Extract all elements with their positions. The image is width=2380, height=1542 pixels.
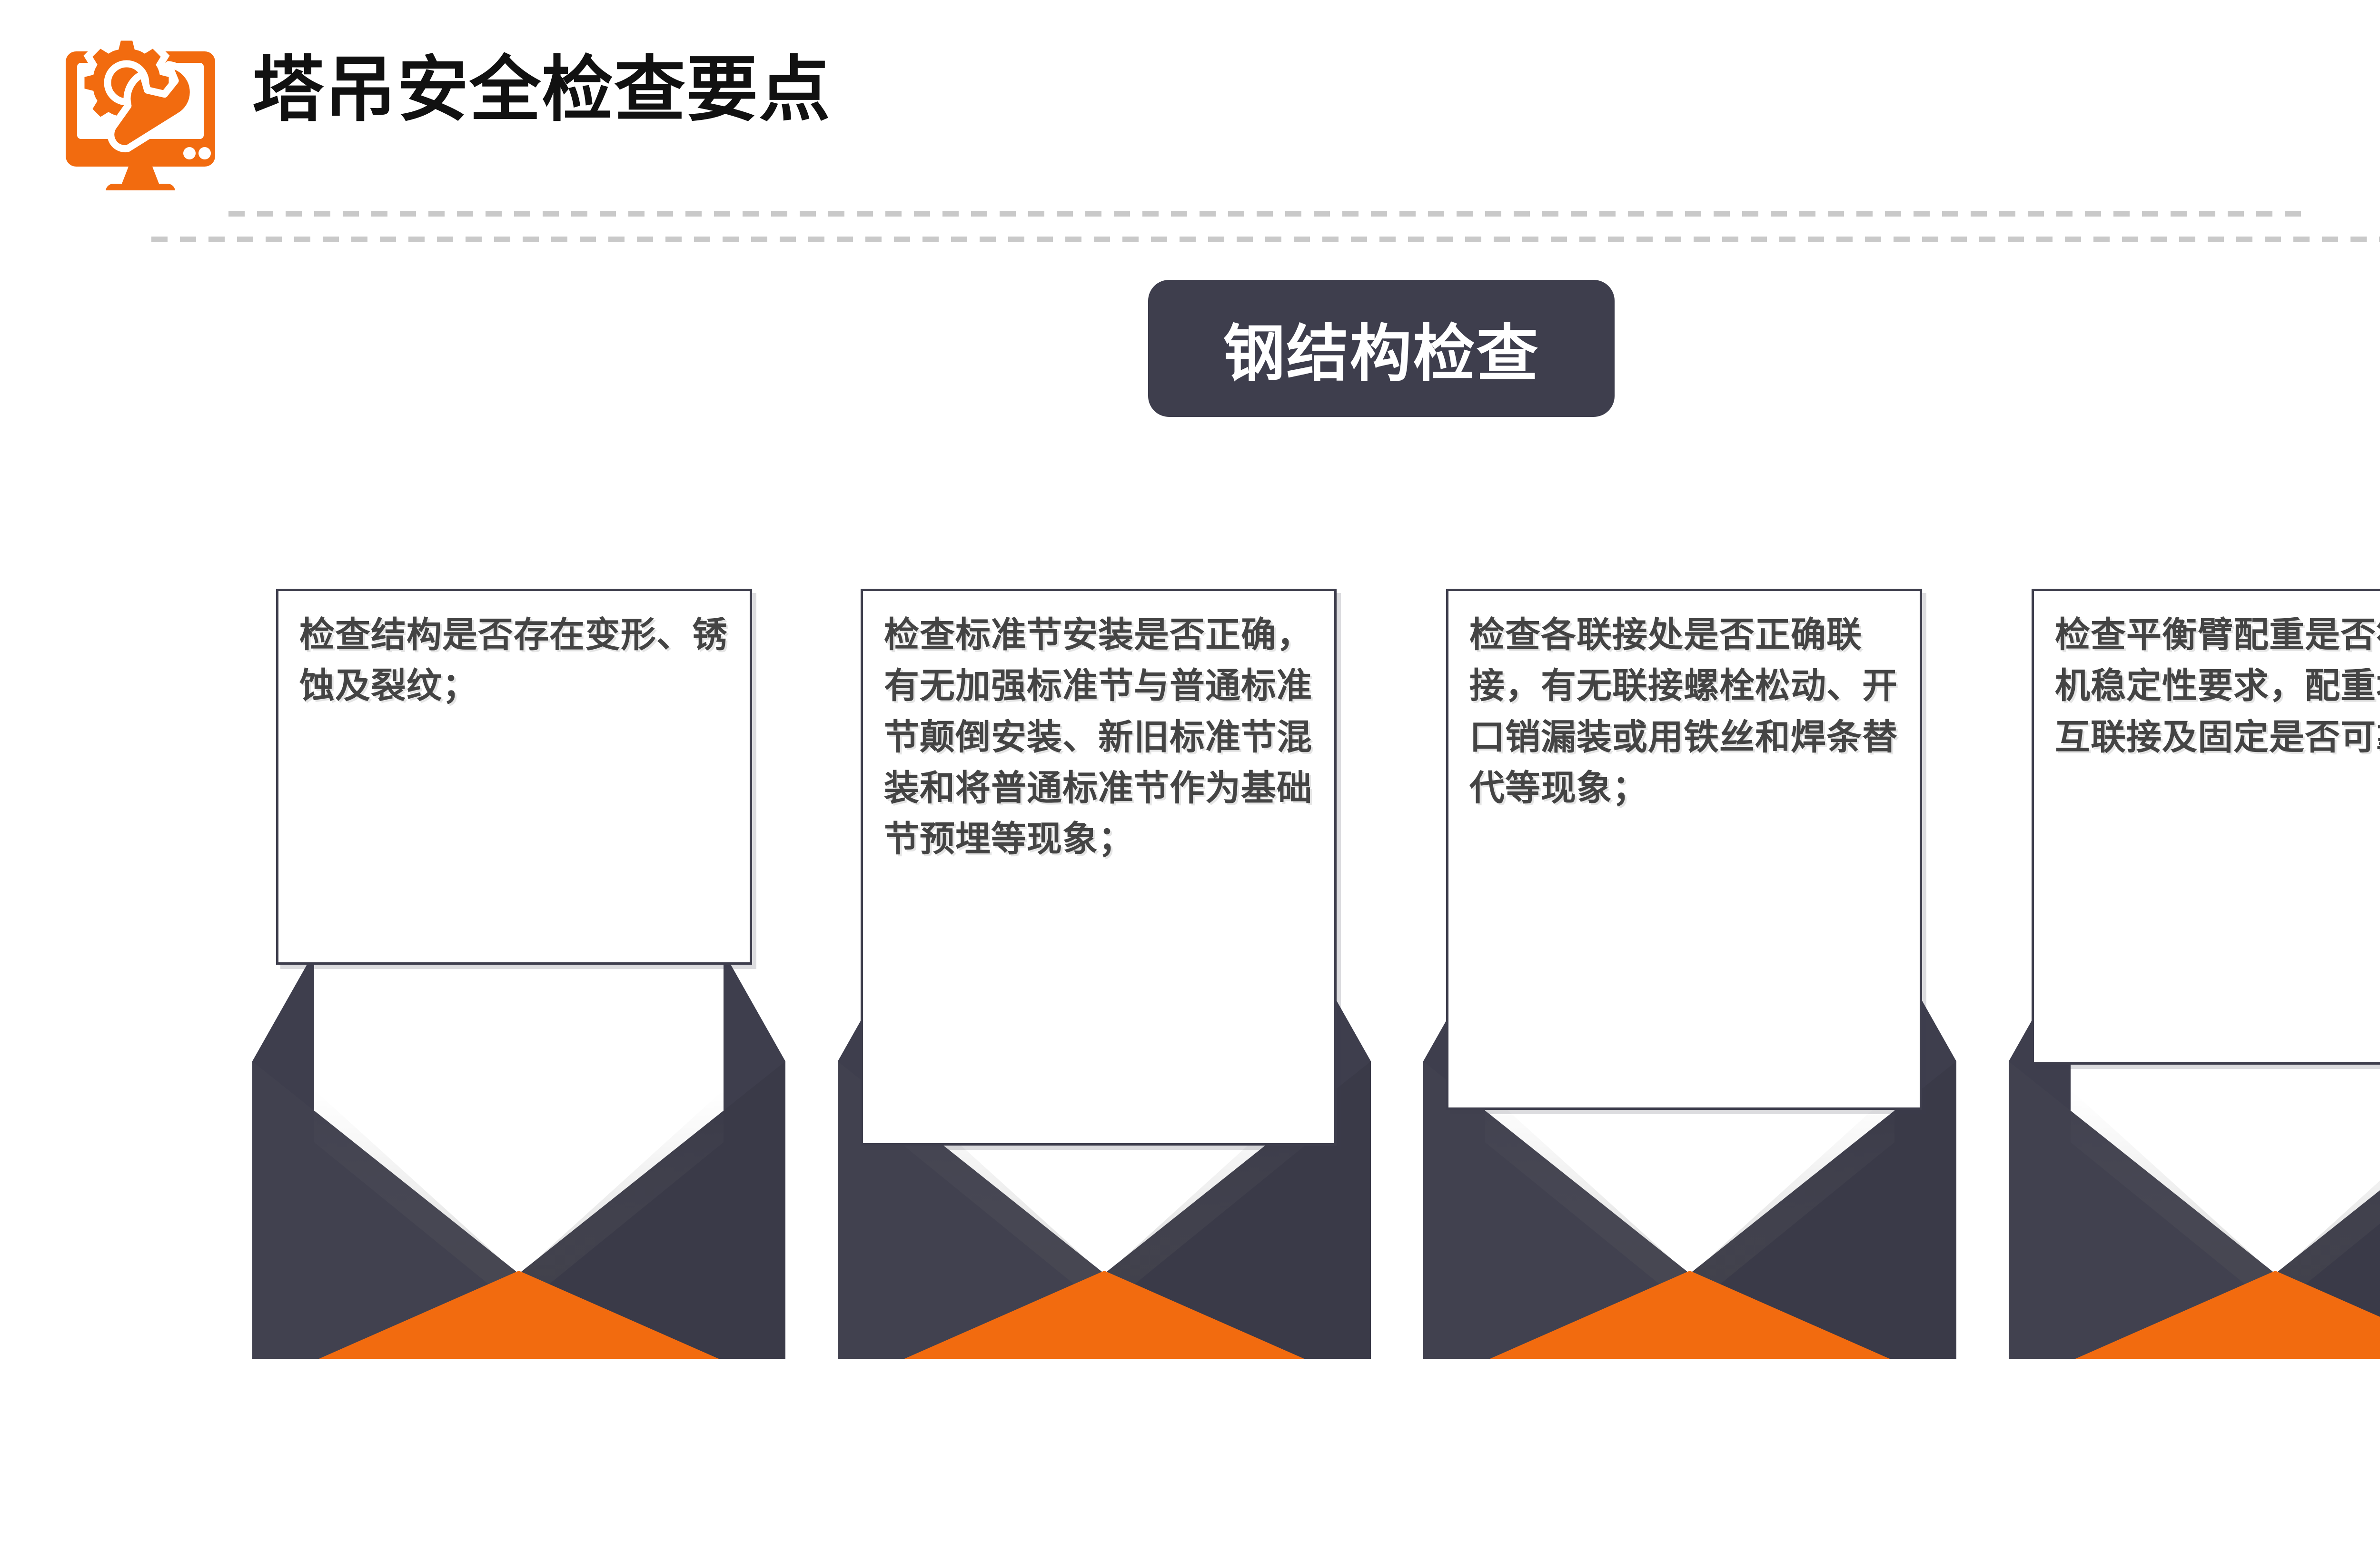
card-letter-b: B — [809, 1432, 1395, 1497]
card-unit-a[interactable]: A 检查结构是否存在变形、锈蚀及裂纹； — [224, 0, 809, 1542]
note-text-b: 检查标准节安装是否正确，有无加强标准节与普通标准节颠倒安装、新旧标准节混装和将普… — [884, 609, 1315, 864]
card-letter-c: C — [1395, 1432, 1980, 1497]
slide-root: 塔吊安全检查要点 钢结构检查 — [0, 0, 2380, 1542]
card-unit-c[interactable]: C 检查各联接处是否正确联接，有无联接螺栓松动、开口销漏装或用铁丝和焊条替代等现… — [1395, 0, 1980, 1542]
note-text-a: 检查结构是否存在变形、锈蚀及裂纹； — [299, 609, 731, 712]
note-card-b: 检查标准节安装是否正确，有无加强标准节与普通标准节颠倒安装、新旧标准节混装和将普… — [861, 589, 1337, 1146]
note-card-a: 检查结构是否存在变形、锈蚀及裂纹； — [276, 589, 752, 965]
note-card-d: 检查平衡臂配重是否符合整机稳定性要求，配重块的相互联接及固定是否可靠。 — [2032, 589, 2380, 1065]
cards-row: A 检查结构是否存在变形、锈蚀及裂纹； — [0, 0, 2380, 1542]
envelope-graphic-a — [238, 947, 800, 1359]
card-letter-a: A — [224, 1432, 809, 1497]
note-card-c: 检查各联接处是否正确联接，有无联接螺栓松动、开口销漏装或用铁丝和焊条替代等现象； — [1446, 589, 1922, 1110]
card-letter-d: D — [1980, 1432, 2380, 1497]
note-text-d: 检查平衡臂配重是否符合整机稳定性要求，配重块的相互联接及固定是否可靠。 — [2055, 609, 2380, 762]
card-unit-b[interactable]: B 检查标准节安装是否正确，有无加强标准节与普通标准节颠倒安装、新旧标准节混装和… — [809, 0, 1395, 1542]
note-text-c: 检查各联接处是否正确联接，有无联接螺栓松动、开口销漏装或用铁丝和焊条替代等现象； — [1469, 609, 1901, 813]
card-unit-d[interactable]: D 检查平衡臂配重是否符合整机稳定性要求，配重块的相互联接及固定是否可靠。 — [1980, 0, 2380, 1542]
